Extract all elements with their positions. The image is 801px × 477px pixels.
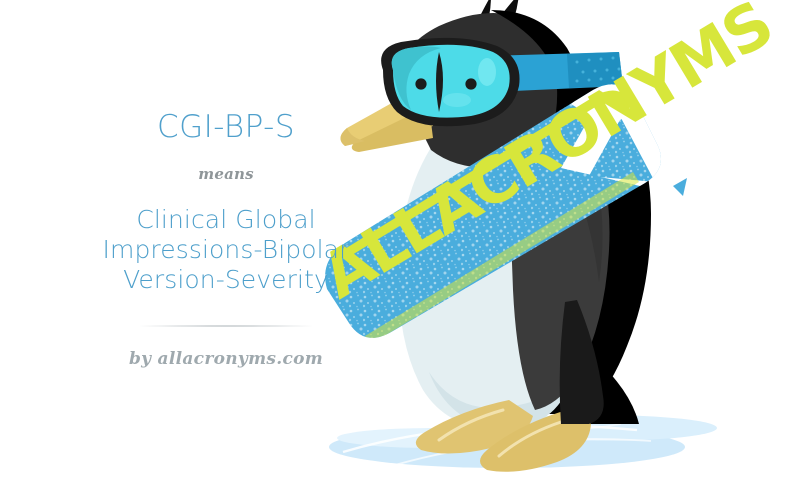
definition-text-panel: CGI-BP-S means Clinical Global Impressio… <box>0 0 452 477</box>
expansion-line-3: Version-Severity <box>103 265 350 295</box>
expansion-line-2: Impressions-Bipolar <box>103 235 350 265</box>
acronym-definition-card: CGI-BP-S means Clinical Global Impressio… <box>0 0 801 477</box>
means-connector-label: means <box>198 165 254 183</box>
site-byline: by allacronyms.com <box>129 349 323 369</box>
horizontal-divider <box>140 325 312 327</box>
expansion-line-1: Clinical Global <box>103 205 350 235</box>
acronym-expansion: Clinical Global Impressions-Bipolar Vers… <box>103 205 350 295</box>
acronym-title: CGI-BP-S <box>157 112 295 143</box>
